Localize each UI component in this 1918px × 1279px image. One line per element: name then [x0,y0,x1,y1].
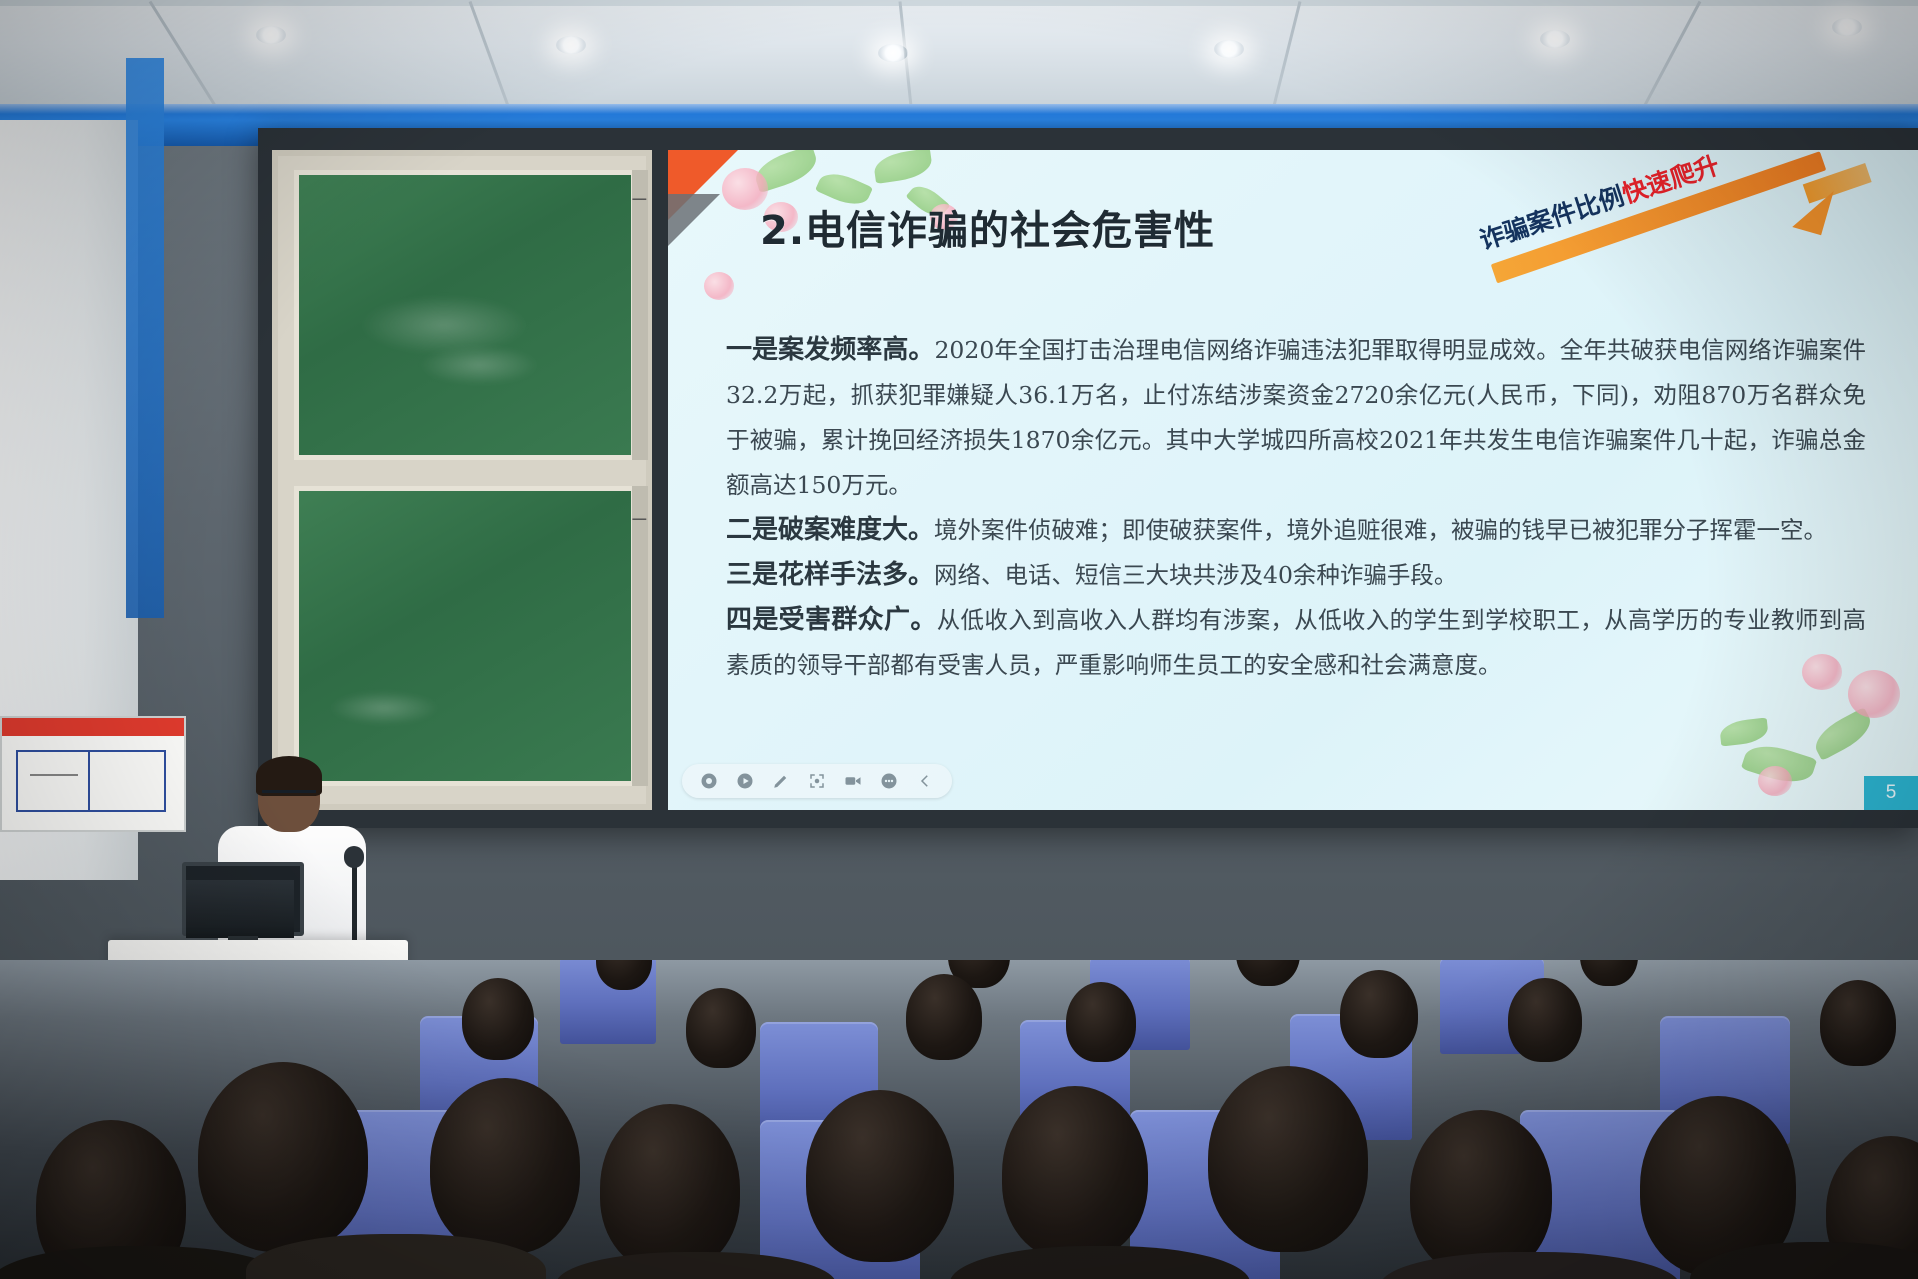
ceiling-light [878,44,908,62]
paragraph-lead: 一是案发频率高。 [726,335,934,365]
slide-corner-shadow [668,194,720,246]
audience-head [806,1090,954,1262]
audience-head [462,978,534,1060]
arrow-annotation-text: 诈骗案件比例快速爬升 [1474,150,1799,257]
audience-head [1208,1066,1368,1252]
paragraph-lead: 四是受害群众广。 [726,605,937,635]
slide-paragraph: 二是破案难度大。境外案件侦破难；即使破获案件，境外追赃很难，被骗的钱早已被犯罪分… [726,508,1866,553]
audience-head [1002,1086,1148,1260]
rising-arrow-annotation: 诈骗案件比例快速爬升 [1480,178,1910,308]
lecture-hall-scene: ▪▪▪▪▪▪▪▪▪▪▪▪ ▪▪▪▪▪▪▪▪▪▪▪▪ 传屏码: 4WK2J6 2.… [0,0,1918,1279]
audience-head [1340,970,1418,1058]
audience-head [1066,982,1136,1062]
audience-head [198,1062,368,1252]
pen-icon[interactable] [772,772,790,790]
audience-head [430,1078,580,1254]
play-icon[interactable] [736,772,754,790]
ceiling-light [1214,40,1244,58]
ceiling-light [1832,18,1862,36]
blackboard-rail-bottom [632,486,648,786]
blackboard: ▪▪▪▪▪▪▪▪▪▪▪▪ ▪▪▪▪▪▪▪▪▪▪▪▪ [272,150,652,810]
blossom-decor [1758,766,1792,796]
slide-page-number: 5 [1864,776,1918,810]
record-icon[interactable] [700,772,718,790]
ceiling-light [1540,30,1570,48]
audience-head [1820,980,1896,1066]
audience-head [1508,978,1582,1062]
ceiling [0,0,1918,108]
ceiling-light [556,36,586,54]
left-wall-blue-light [126,58,164,618]
blackboard-pane-top [294,170,636,460]
audience-head [906,974,982,1060]
arrow-head [1792,183,1834,235]
audience-head [1236,960,1300,986]
slide-title: 2.电信诈骗的社会危害性 [760,198,1400,256]
audience-head [600,1104,740,1272]
slide-paragraph: 四是受害群众广。从低收入到高收入人群均有涉案，从低收入的学生到学校职工，从高学历… [726,598,1866,688]
audience-head [1580,960,1638,986]
paragraph-lead: 二是破案难度大。 [726,515,934,545]
projected-slide: 传屏码: 4WK2J6 2.电信诈骗的社会危害性 诈骗案件比例快速爬升 [668,150,1918,810]
slide-paragraph: 一是案发频率高。2020年全国打击治理电信网络诈骗违法犯罪取得明显成效。全年共破… [726,328,1866,508]
paragraph-body: 网络、电话、短信三大块共涉及40余种诈骗手段。 [934,561,1457,589]
paragraph-body: 境外案件侦破难；即使破获案件，境外追赃很难，被骗的钱早已被犯罪分子挥霍一空。 [934,516,1827,544]
blackboard-pane-bottom [294,486,636,786]
slide-control-toolbar[interactable] [682,764,952,798]
evacuation-notice-board [0,716,186,832]
leaf-decor [872,150,933,184]
blossom-decor [704,272,734,300]
audience-head [686,988,756,1068]
more-icon[interactable] [880,772,898,790]
podium-monitor-screen [186,880,294,938]
leaf-decor [1719,718,1769,747]
blackboard-rail-top [632,170,648,460]
microphone-head [344,846,364,868]
audience-area [0,960,1918,1279]
camera-icon[interactable] [844,772,862,790]
paragraph-lead: 三是花样手法多。 [726,560,934,590]
collapse-chevron-icon[interactable] [916,772,934,790]
ceiling-light [256,26,286,44]
slide-paragraph: 三是花样手法多。网络、电话、短信三大块共涉及40余种诈骗手段。 [726,553,1866,598]
glasses-icon [262,790,316,802]
slide-body-text: 一是案发频率高。2020年全国打击治理电信网络诈骗违法犯罪取得明显成效。全年共破… [726,328,1866,688]
focus-icon[interactable] [808,772,826,790]
